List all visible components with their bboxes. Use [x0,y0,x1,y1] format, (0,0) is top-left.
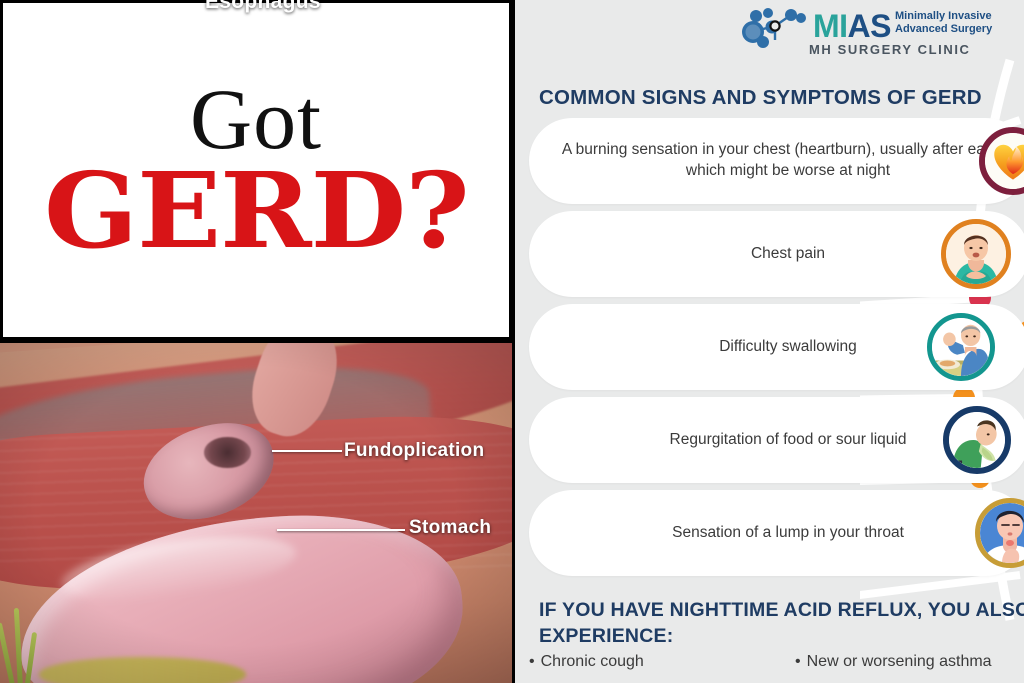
mias-molecule-icon [739,6,813,52]
label-stomach: Stomach [409,517,491,539]
mias-subtitle: MH SURGERY CLINIC [809,42,971,57]
symptoms-list: A burning sensation in your chest (heart… [529,118,1024,583]
symptom-card-throat-lump: Sensation of a lump in your throat [529,490,1024,576]
symptom-label: A burning sensation in your chest (heart… [529,140,1024,181]
leader-line-fundoplication [272,450,342,452]
mias-wordmark-part2: AS [848,8,891,44]
left-column: Got GERD? Esop [0,0,512,683]
fundoplication-illustration-panel [0,340,512,683]
page-title: COMMON SIGNS AND SYMPTOMS OF GERD [539,86,1024,110]
throat-lump-person-icon [975,498,1024,568]
symptom-card-difficulty-swallowing: Difficulty swallowing [529,304,1024,390]
gerd-word: GERD? [44,162,469,261]
footer-bullet-list: •Chronic cough •New or worsening asthma [529,653,1024,671]
bullet-text: New or worsening asthma [807,653,992,670]
regurgitation-person-icon [943,406,1011,474]
symptom-label: Sensation of a lump in your throat [529,523,1024,544]
symptom-card-heartburn: A burning sensation in your chest (heart… [529,118,1024,204]
label-esophagus: Esophagus [205,0,321,14]
footer-heading: IF YOU HAVE NIGHTTIME ACID REFLUX, YOU A… [539,598,1024,649]
mias-wordmark-part1: MI [813,8,848,44]
mias-logo: MIAS Minimally Invasive Advanced Surgery… [737,6,1024,58]
got-gerd-panel: Got GERD? [0,0,512,340]
chest-pain-person-icon [941,219,1011,289]
list-item: •Chronic cough [529,653,795,671]
label-fundoplication: Fundoplication [344,440,484,462]
bullet-text: Chronic cough [541,653,644,670]
symptom-card-regurgitation: Regurgitation of food or sour liquid [529,397,1024,483]
mias-tagline-line2: Advanced Surgery [895,23,1024,36]
burning-heart-icon [979,127,1024,195]
list-item: •New or worsening asthma [795,653,992,671]
anatomy-artwork [0,341,512,683]
symptom-card-chest-pain: Chest pain [529,211,1024,297]
right-column: MIAS Minimally Invasive Advanced Surgery… [512,0,1024,683]
infographic-canvas: Got GERD? Esop [0,0,1024,683]
mias-tagline-line1: Minimally Invasive [895,10,1024,23]
difficulty-swallowing-person-icon [927,313,995,381]
leader-line-stomach [277,529,405,531]
bullet-marker-icon: • [529,653,535,671]
bullet-marker-icon: • [795,653,801,671]
mias-tagline: Minimally Invasive Advanced Surgery [895,10,1024,37]
mias-wordmark: MIAS [813,10,891,42]
got-word: Got [190,79,322,161]
